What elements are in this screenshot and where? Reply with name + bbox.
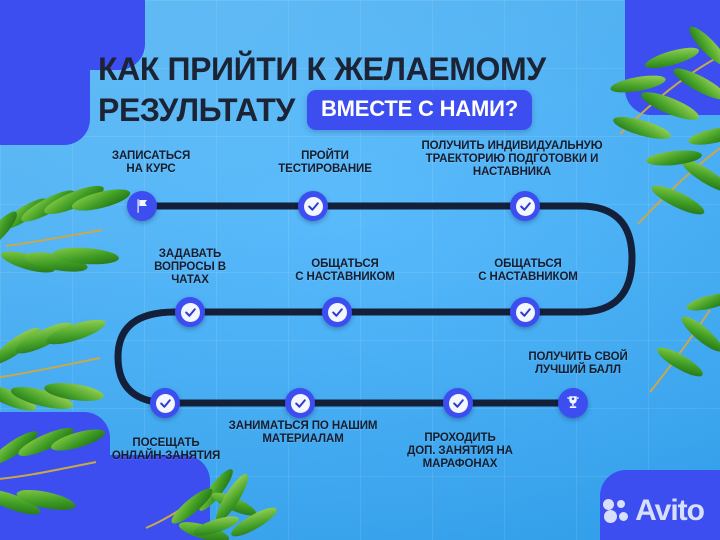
check-icon — [516, 303, 535, 322]
poster-canvas: КАК ПРИЙТИ К ЖЕЛАЕМОМУ РЕЗУЛЬТАТУ ВМЕСТЕ… — [0, 0, 720, 540]
flag-icon — [127, 191, 157, 221]
avito-wordmark: Avito — [635, 496, 704, 526]
roadmap-node-label-8: ЗАНИМАТЬСЯ ПО НАШИММАТЕРИАЛАМ — [203, 420, 403, 446]
headline-line-1: КАК ПРИЙТИ К ЖЕЛАЕМОМУ — [98, 52, 643, 86]
check-icon — [449, 394, 468, 413]
roadmap-node-label-4: ОБЩАТЬСЯС НАСТАВНИКОМ — [448, 258, 608, 284]
headline-badge: ВМЕСТЕ С НАМИ? — [307, 90, 532, 130]
roadmap-node-7[interactable] — [150, 388, 180, 418]
check-icon — [516, 197, 535, 216]
headline: КАК ПРИЙТИ К ЖЕЛАЕМОМУ РЕЗУЛЬТАТУ ВМЕСТЕ… — [98, 52, 643, 130]
roadmap-node-3[interactable] — [510, 191, 540, 221]
check-icon — [291, 394, 310, 413]
roadmap-node-label-3: ПОЛУЧИТЬ ИНДИВИДУАЛЬНУЮТРАЕКТОРИЮ ПОДГОТ… — [397, 140, 627, 179]
roadmap-node-4[interactable] — [510, 297, 540, 327]
roadmap-node-label-10: ПОЛУЧИТЬ СВОЙЛУЧШИЙ БАЛЛ — [498, 351, 658, 377]
roadmap-node-8[interactable] — [285, 388, 315, 418]
trophy-icon — [558, 388, 588, 418]
roadmap-node-10[interactable] — [558, 388, 588, 418]
check-icon — [304, 197, 323, 216]
roadmap-node-label-9: ПРОХОДИТЬДОП. ЗАНЯТИЯ НАМАРАФОНАХ — [380, 432, 540, 471]
roadmap-node-label-5: ОБЩАТЬСЯС НАСТАВНИКОМ — [265, 258, 425, 284]
roadmap-node-9[interactable] — [443, 388, 473, 418]
roadmap-node-6[interactable] — [175, 297, 205, 327]
check-icon — [156, 394, 175, 413]
avito-dots-icon — [603, 499, 629, 523]
check-icon — [181, 303, 200, 322]
avito-watermark: Avito — [603, 496, 704, 526]
roadmap-node-label-1: ЗАПИСАТЬСЯНА КУРС — [86, 150, 216, 176]
check-icon — [328, 303, 347, 322]
roadmap-node-2[interactable] — [298, 191, 328, 221]
headline-line-2: РЕЗУЛЬТАТУ — [98, 93, 295, 127]
roadmap-node-label-6: ЗАДАВАТЬВОПРОСЫ ВЧАТАХ — [135, 248, 245, 287]
roadmap-node-5[interactable] — [322, 297, 352, 327]
roadmap-node-1[interactable] — [127, 191, 157, 221]
roadmap-node-label-2: ПРОЙТИТЕСТИРОВАНИЕ — [250, 150, 400, 176]
